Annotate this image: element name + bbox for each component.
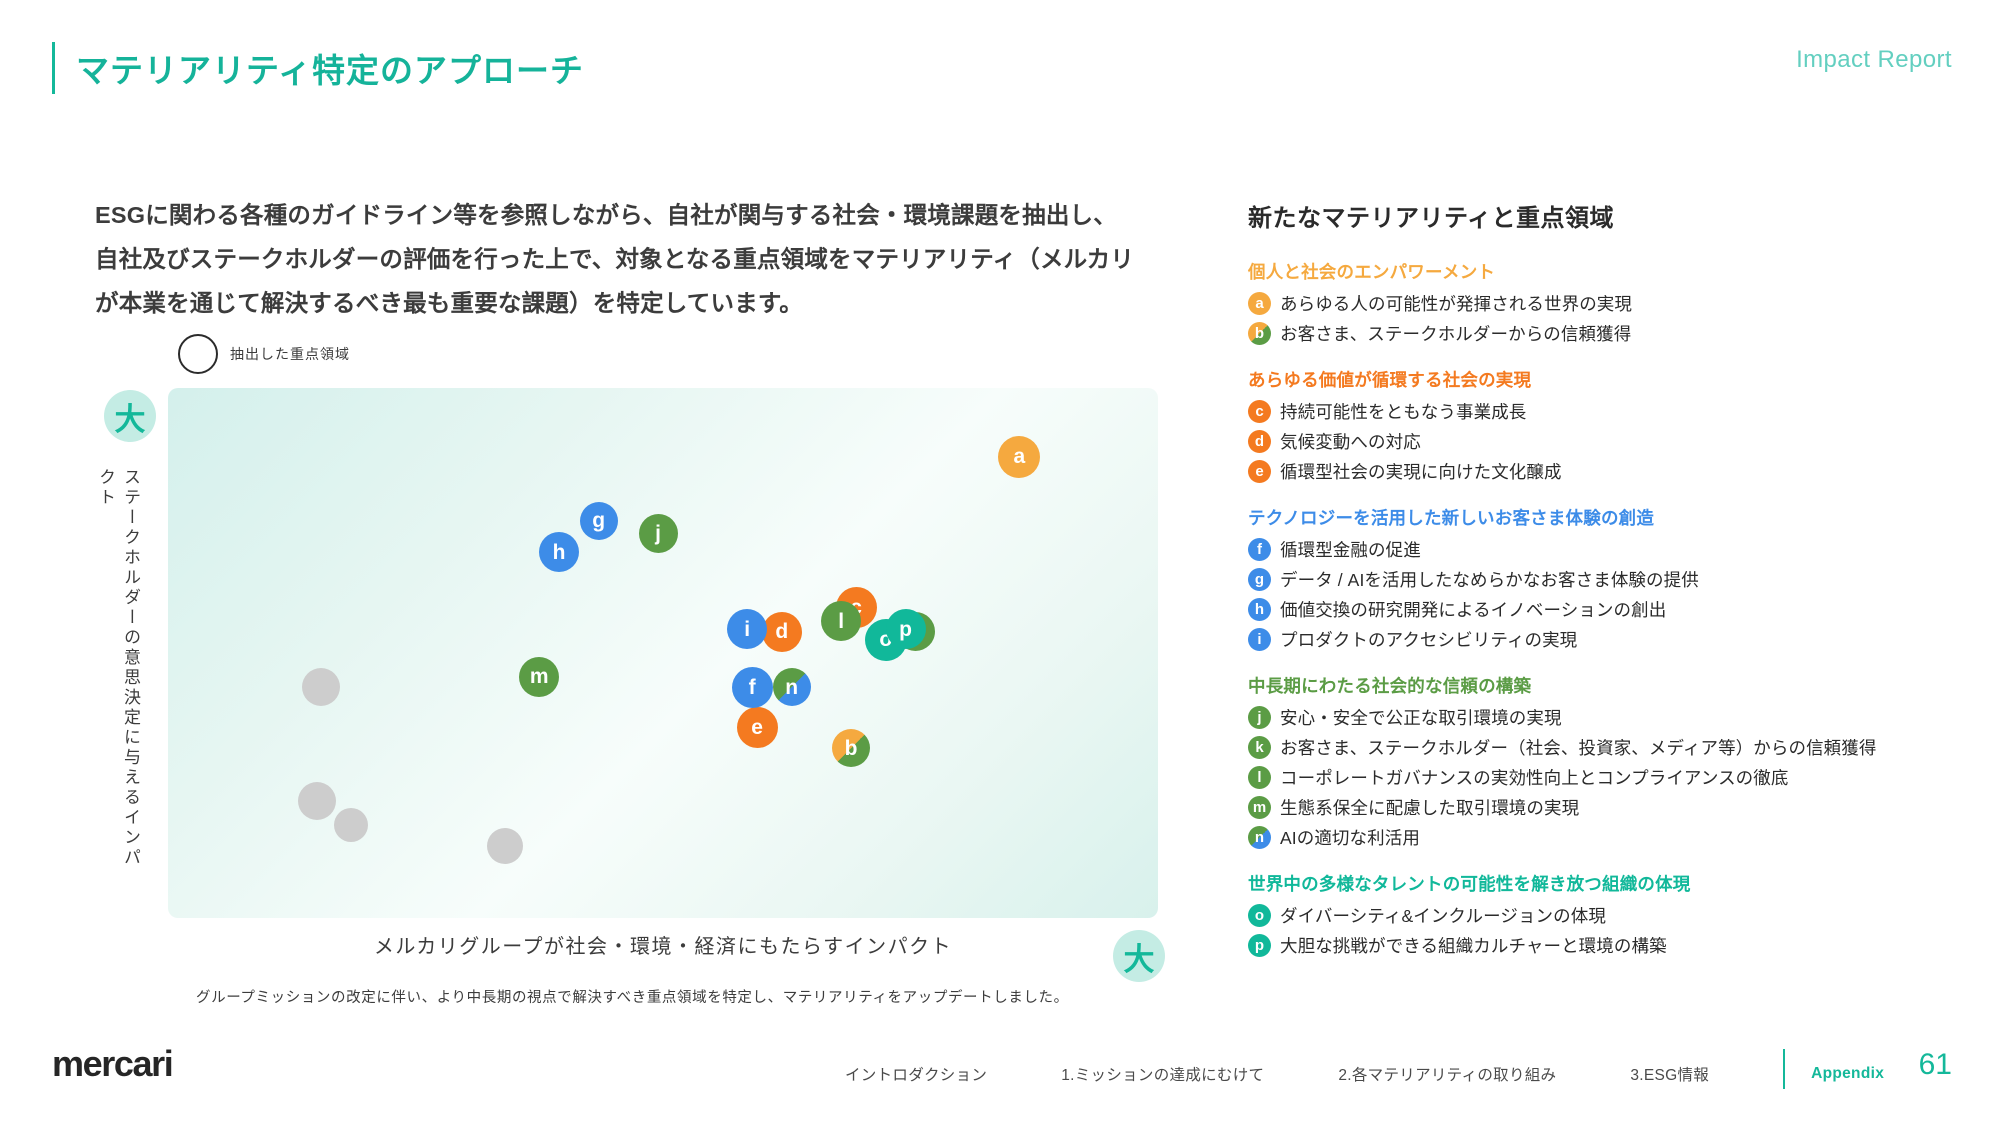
materiality-item-label: 持続可能性をともなう事業成長	[1280, 399, 1526, 424]
materiality-badge-k: k	[1248, 736, 1271, 759]
slide-footer: mercari イントロダクション1.ミッションの達成にむけて2.各マテリアリテ…	[0, 1015, 2000, 1125]
materiality-item[interactable]: nAIの適切な利活用	[1248, 825, 1958, 850]
materiality-badge-j: j	[1248, 706, 1271, 729]
materiality-badge-p: p	[1248, 934, 1271, 957]
materiality-item[interactable]: d気候変動への対応	[1248, 429, 1958, 454]
materiality-item[interactable]: lコーポレートガバナンスの実効性向上とコンプライアンスの徹底	[1248, 765, 1958, 790]
footer-nav: イントロダクション1.ミッションの達成にむけて2.各マテリアリティの取り組み3.…	[845, 1059, 1884, 1089]
materiality-item[interactable]: kお客さま、ステークホルダー（社会、投資家、メディア等）からの信頼獲得	[1248, 735, 1958, 760]
materiality-badge-c: c	[1248, 400, 1271, 423]
materiality-badge-l: l	[1248, 766, 1271, 789]
chart-legend-label: 抽出した重点領域	[230, 344, 350, 364]
chart-bubble-b: b	[832, 729, 870, 767]
materiality-item-label: 大胆な挑戦ができる組織カルチャーと環境の構築	[1280, 933, 1667, 958]
chart-bubble-label: g	[592, 510, 605, 531]
materiality-badge-m: m	[1248, 796, 1271, 819]
materiality-item[interactable]: m生態系保全に配慮した取引環境の実現	[1248, 795, 1958, 820]
chart-bubble-label: i	[744, 619, 750, 640]
y-axis-high-marker: 大	[104, 390, 156, 442]
footer-nav-divider	[1783, 1049, 1785, 1089]
materiality-group-title: あらゆる価値が循環する社会の実現	[1248, 367, 1958, 392]
materiality-badge-i: i	[1248, 628, 1271, 651]
materiality-item-label: データ / AIを活用したなめらかなお客さま体験の提供	[1280, 567, 1699, 592]
chart-bubble-unlabeled	[487, 828, 523, 864]
materiality-matrix-chart: abcdefghijklmnop	[168, 388, 1158, 918]
materiality-item[interactable]: p大胆な挑戦ができる組織カルチャーと環境の構築	[1248, 933, 1958, 958]
chart-bubble-label: l	[838, 611, 844, 632]
materiality-item-label: 生態系保全に配慮した取引環境の実現	[1280, 795, 1579, 820]
chart-bubble-n: n	[773, 668, 811, 706]
materiality-item-label: お客さま、ステークホルダーからの信頼獲得	[1280, 321, 1631, 346]
materiality-item-label: 循環型社会の実現に向けた文化醸成	[1280, 459, 1562, 484]
chart-bubble-label: a	[1014, 446, 1026, 467]
chart-bubble-label: d	[775, 621, 788, 642]
empty-circle-icon	[178, 334, 218, 374]
materiality-group-title: 個人と社会のエンパワーメント	[1248, 259, 1958, 284]
materiality-item-label: 安心・安全で公正な取引環境の実現	[1280, 705, 1562, 730]
y-axis-label: ステークホルダーの意思決定に与えるインパクト	[117, 468, 143, 868]
footer-nav-item-0[interactable]: イントロダクション	[845, 1063, 987, 1085]
materiality-group: 中長期にわたる社会的な信頼の構築j安心・安全で公正な取引環境の実現kお客さま、ス…	[1248, 673, 1958, 850]
chart-bubble-unlabeled	[302, 668, 340, 706]
materiality-item-label: 循環型金融の促進	[1280, 537, 1421, 562]
chart-bubble-d: d	[762, 612, 802, 652]
chart-bubble-f: f	[732, 667, 773, 708]
chart-bubble-label: p	[899, 619, 912, 640]
materiality-item-label: プロダクトのアクセシビリティの実現	[1280, 627, 1577, 652]
footer-nav-item-3[interactable]: 3.ESG情報	[1630, 1063, 1709, 1085]
materiality-group: 個人と社会のエンパワーメントaあらゆる人の可能性が発揮される世界の実現bお客さま…	[1248, 259, 1958, 346]
chart-bubble-label: f	[749, 677, 756, 698]
chart-legend: 抽出した重点領域	[178, 334, 350, 374]
materiality-item-label: あらゆる人の可能性が発揮される世界の実現	[1280, 291, 1632, 316]
materiality-group-title: 中長期にわたる社会的な信頼の構築	[1248, 673, 1958, 698]
materiality-badge-o: o	[1248, 904, 1271, 927]
materiality-badge-e: e	[1248, 460, 1271, 483]
lead-line-3: が本業を通じて解決するべき最も重要な課題）を特定しています。	[95, 281, 1225, 325]
lead-paragraph: ESGに関わる各種のガイドライン等を参照しながら、自社が関与する社会・環境課題を…	[95, 193, 1225, 325]
chart-bubble-j: j	[639, 514, 678, 553]
materiality-item-label: コーポレートガバナンスの実効性向上とコンプライアンスの徹底	[1280, 765, 1788, 790]
materiality-item[interactable]: j安心・安全で公正な取引環境の実現	[1248, 705, 1958, 730]
materiality-group: 世界中の多様なタレントの可能性を解き放つ組織の体現oダイバーシティ&インクルージ…	[1248, 871, 1958, 958]
chart-bubble-m: m	[519, 657, 559, 697]
materiality-badge-h: h	[1248, 598, 1271, 621]
materiality-badge-g: g	[1248, 568, 1271, 591]
materiality-group-title: 世界中の多様なタレントの可能性を解き放つ組織の体現	[1248, 871, 1958, 896]
materiality-group-title: テクノロジーを活用した新しいお客さま体験の創造	[1248, 505, 1958, 530]
materiality-item-label: 気候変動への対応	[1280, 429, 1421, 454]
chart-bubble-label: n	[785, 677, 798, 698]
mercari-logo: mercari	[52, 1043, 172, 1085]
x-axis-label: メルカリグループが社会・環境・経済にもたらすインパクト	[168, 930, 1158, 959]
panel-title: 新たなマテリアリティと重点領域	[1248, 198, 1958, 233]
chart-bubble-a: a	[998, 436, 1040, 478]
chart-bubble-label: m	[530, 666, 549, 687]
report-label: Impact Report	[1796, 46, 1952, 74]
materiality-item[interactable]: iプロダクトのアクセシビリティの実現	[1248, 627, 1958, 652]
footer-nav-item-4[interactable]: Appendix	[1811, 1065, 1884, 1083]
materiality-item-label: 価値交換の研究開発によるイノベーションの創出	[1280, 597, 1666, 622]
materiality-item[interactable]: aあらゆる人の可能性が発揮される世界の実現	[1248, 291, 1958, 316]
chart-bubble-p: p	[886, 609, 926, 649]
materiality-item[interactable]: f循環型金融の促進	[1248, 537, 1958, 562]
materiality-group: テクノロジーを活用した新しいお客さま体験の創造f循環型金融の促進gデータ / A…	[1248, 505, 1958, 652]
materiality-badge-b: b	[1248, 322, 1271, 345]
chart-bubble-g: g	[580, 502, 618, 540]
materiality-badge-d: d	[1248, 430, 1271, 453]
lead-line-1: ESGに関わる各種のガイドライン等を参照しながら、自社が関与する社会・環境課題を…	[95, 193, 1225, 237]
chart-bubble-unlabeled	[298, 782, 336, 820]
materiality-item-label: お客さま、ステークホルダー（社会、投資家、メディア等）からの信頼獲得	[1280, 735, 1876, 760]
materiality-group: あらゆる価値が循環する社会の実現c持続可能性をともなう事業成長d気候変動への対応…	[1248, 367, 1958, 484]
chart-bubble-l: l	[821, 601, 861, 641]
materiality-badge-n: n	[1248, 826, 1271, 849]
page-title: マテリアリティ特定のアプローチ	[76, 44, 584, 92]
footer-nav-item-1[interactable]: 1.ミッションの達成にむけて	[1061, 1063, 1264, 1085]
materiality-item[interactable]: c持続可能性をともなう事業成長	[1248, 399, 1958, 424]
chart-bubble-e: e	[737, 707, 778, 748]
chart-bubble-label: h	[553, 542, 566, 563]
chart-bubble-i: i	[727, 609, 767, 649]
chart-bubble-h: h	[539, 532, 579, 572]
chart-footnote: グループミッションの改定に伴い、より中長期の視点で解決すべき重点領域を特定し、マ…	[196, 986, 1069, 1007]
materiality-item[interactable]: gデータ / AIを活用したなめらかなお客さま体験の提供	[1248, 567, 1958, 592]
materiality-item[interactable]: e循環型社会の実現に向けた文化醸成	[1248, 459, 1958, 484]
chart-bubble-label: j	[655, 523, 661, 544]
materiality-item[interactable]: oダイバーシティ&インクルージョンの体現	[1248, 903, 1958, 928]
materiality-item[interactable]: bお客さま、ステークホルダーからの信頼獲得	[1248, 321, 1958, 346]
materiality-item-label: AIの適切な利活用	[1280, 825, 1420, 850]
footer-nav-item-2[interactable]: 2.各マテリアリティの取り組み	[1338, 1063, 1556, 1085]
slide-page: マテリアリティ特定のアプローチ Impact Report ESGに関わる各種の…	[0, 0, 2000, 1125]
chart-bubble-label: e	[751, 717, 763, 738]
chart-bubble-unlabeled	[334, 808, 368, 842]
title-accent-rule	[52, 42, 55, 94]
materiality-badge-a: a	[1248, 292, 1271, 315]
chart-bubble-label: b	[845, 738, 858, 759]
materiality-list-panel: 新たなマテリアリティと重点領域 個人と社会のエンパワーメントaあらゆる人の可能性…	[1248, 198, 1958, 979]
materiality-badge-f: f	[1248, 538, 1271, 561]
page-number: 61	[1919, 1048, 1952, 1082]
lead-line-2: 自社及びステークホルダーの評価を行った上で、対象となる重点領域をマテリアリティ（…	[95, 237, 1225, 281]
materiality-item-label: ダイバーシティ&インクルージョンの体現	[1280, 903, 1606, 928]
materiality-item[interactable]: h価値交換の研究開発によるイノベーションの創出	[1248, 597, 1958, 622]
